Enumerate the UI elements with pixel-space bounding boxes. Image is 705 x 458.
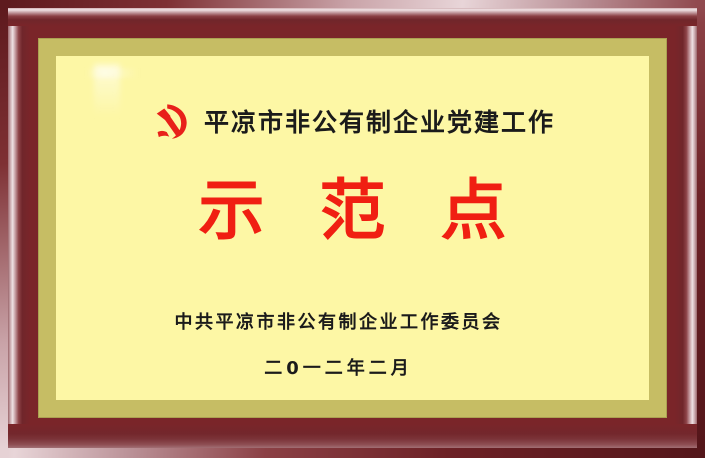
plaque-issuer: 中共平凉市非公有制企业工作委员会: [56, 308, 649, 334]
plaque-headline: 示 范 点: [56, 176, 649, 245]
plaque-title: 平凉市非公有制企业党建工作: [204, 110, 555, 135]
plaque-date: 二0一二年二月: [56, 354, 649, 380]
frame-right-bevel: [675, 0, 705, 458]
panel-glare-highlight-secondary: [86, 68, 138, 78]
certificate-panel: 平凉市非公有制企业党建工作 示 范 点 中共平凉市非公有制企业工作委员会 二0一…: [56, 56, 649, 400]
frame-top-bevel: [0, 0, 705, 26]
frame-left-bevel: [0, 0, 30, 458]
plaque-mat: 平凉市非公有制企业党建工作 示 范 点 中共平凉市非公有制企业工作委员会 二0一…: [38, 38, 667, 418]
cpc-hammer-sickle-emblem: [150, 101, 192, 143]
award-plaque: 平凉市非公有制企业党建工作 示 范 点 中共平凉市非公有制企业工作委员会 二0一…: [0, 0, 705, 458]
frame-bottom-bevel: [0, 424, 705, 458]
title-row: 平凉市非公有制企业党建工作: [56, 101, 649, 143]
